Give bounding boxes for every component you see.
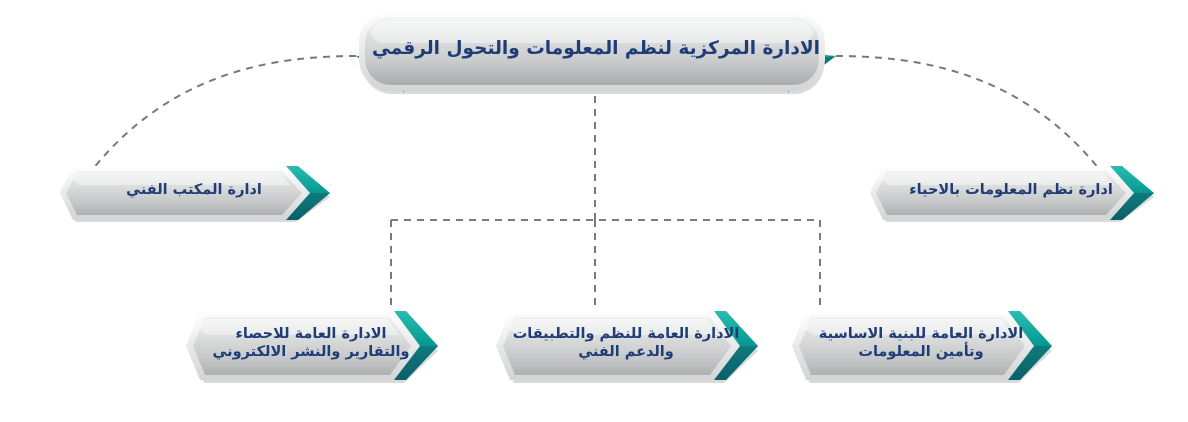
org-chart: الادارة المركزية لنظم المعلومات والتحول …	[0, 0, 1188, 422]
node-right-shape	[868, 164, 1158, 222]
node-right[interactable]: ادارة نظم المعلومات بالاحياء	[868, 164, 1158, 222]
node-root[interactable]: الادارة المركزية لنظم المعلومات والتحول …	[352, 8, 840, 96]
node-left[interactable]: ادارة المكتب الفني	[58, 164, 334, 222]
node-bottom-1-shape	[184, 309, 442, 383]
node-bottom-2[interactable]: الادارة العامة للنظم والتطبيقات والدعم ا…	[494, 309, 762, 383]
node-bottom-3-shape	[790, 309, 1056, 383]
node-bottom-2-shape	[494, 309, 762, 383]
node-left-shape	[58, 164, 334, 222]
node-bottom-1[interactable]: الادارة العامة للاحصاء والتقارير والنشر …	[184, 309, 442, 383]
node-bottom-3[interactable]: الادارة العامة للبنية الاساسية وتأمين ال…	[790, 309, 1056, 383]
node-root-shape	[352, 8, 840, 96]
